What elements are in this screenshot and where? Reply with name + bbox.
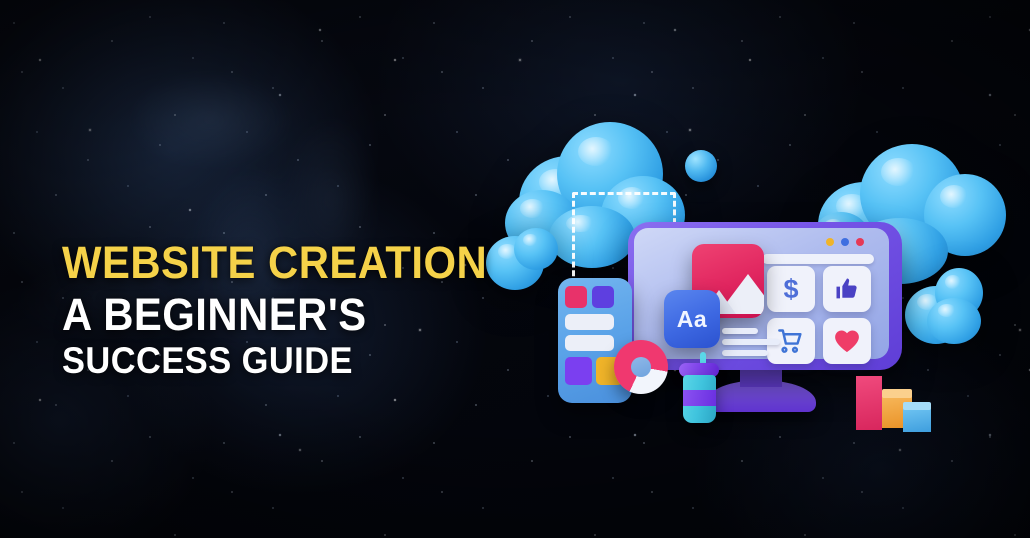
headline-line-2: A BEGINNER'S — [62, 292, 487, 337]
box-pink — [856, 376, 882, 430]
typography-card[interactable]: Aa — [664, 290, 720, 348]
panel-block-light-1 — [565, 314, 614, 330]
cup-sleeve — [683, 390, 716, 406]
typography-card-label: Aa — [677, 306, 707, 333]
content-line-1 — [722, 328, 758, 334]
panel-block-violet — [592, 286, 614, 308]
window-dot-blue — [841, 238, 849, 246]
floating-sphere — [685, 150, 717, 182]
window-dot-red — [856, 238, 864, 246]
shopping-cart-icon — [777, 327, 805, 355]
cloud-right-small — [905, 268, 983, 346]
content-line-2 — [722, 339, 780, 345]
panel-block-pink — [565, 286, 587, 308]
banner: $ Aa — [0, 0, 1030, 538]
headline-line-3: SUCCESS GUIDE — [62, 342, 487, 379]
panel-block-light-2 — [565, 335, 614, 351]
thumbs-up-icon-tile[interactable] — [823, 266, 871, 312]
heart-icon-tile[interactable] — [823, 318, 871, 364]
dollar-icon: $ — [783, 276, 798, 303]
heart-icon — [833, 328, 861, 354]
box-pink-top — [856, 371, 882, 378]
box-blue — [903, 408, 931, 432]
box-blue-top — [903, 402, 931, 410]
browser-url-bar[interactable] — [762, 254, 874, 264]
headline: WEBSITE CREATION A BEGINNER'S SUCCESS GU… — [62, 240, 519, 379]
content-line-3 — [722, 350, 768, 356]
panel-block-purple — [565, 357, 592, 385]
window-dot-yellow — [826, 238, 834, 246]
donut-chart-hole — [631, 357, 651, 377]
headline-line-1: WEBSITE CREATION — [62, 240, 487, 285]
dollar-icon-tile[interactable]: $ — [767, 266, 815, 312]
box-orange-top — [882, 389, 912, 398]
thumbs-up-icon — [833, 275, 861, 303]
